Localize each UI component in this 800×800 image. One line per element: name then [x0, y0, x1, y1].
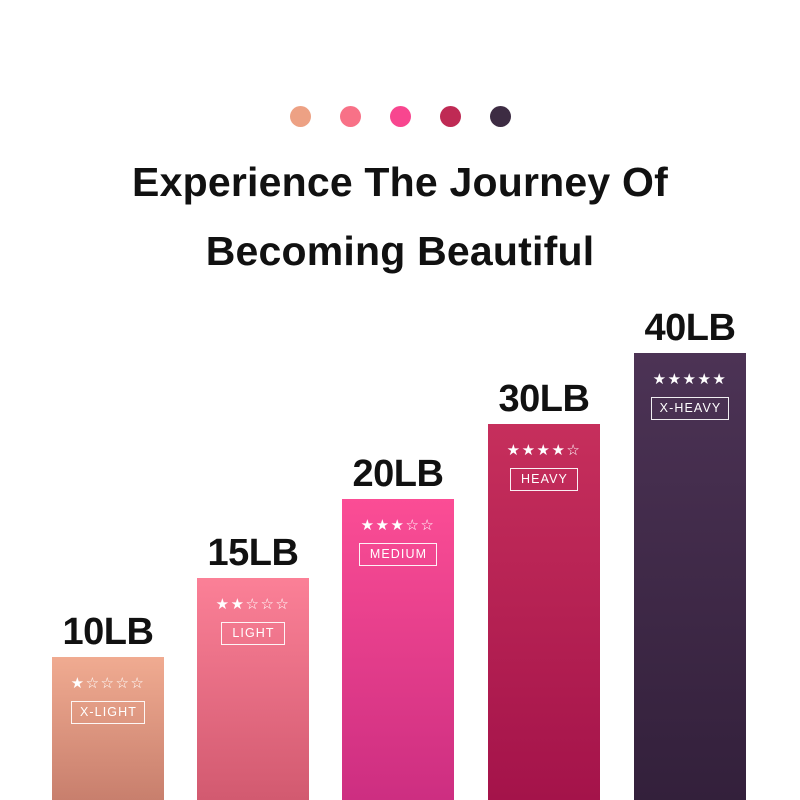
bar-30lb-value-label: 30LB — [499, 380, 590, 418]
bar-40lb-value-label: 40LB — [645, 309, 736, 347]
bar-20lb-star-rating: ★★★☆☆ — [361, 518, 436, 533]
bar-20lb-value-label: 20LB — [353, 455, 444, 493]
bar-30lb[interactable]: 30LB★★★★☆HEAVY — [488, 424, 600, 800]
bar-15lb-value-label: 15LB — [208, 534, 299, 572]
bar-15lb-fill: ★★☆☆☆LIGHT — [197, 578, 309, 800]
bar-20lb-tier-label: MEDIUM — [359, 543, 437, 566]
bar-40lb-fill: ★★★★★X-HEAVY — [634, 353, 746, 800]
bar-10lb-value-label: 10LB — [63, 613, 154, 651]
bar-10lb-tier-label: X-LIGHT — [71, 701, 145, 724]
bar-20lb-fill: ★★★☆☆MEDIUM — [342, 499, 454, 800]
bar-30lb-fill: ★★★★☆HEAVY — [488, 424, 600, 800]
bar-10lb-fill: ★☆☆☆☆X-LIGHT — [52, 657, 164, 800]
bar-10lb[interactable]: 10LB★☆☆☆☆X-LIGHT — [52, 657, 164, 800]
product-infographic: Experience The Journey Of Becoming Beaut… — [0, 0, 800, 800]
bar-15lb-star-rating: ★★☆☆☆ — [216, 597, 291, 612]
resistance-bar-chart: 10LB★☆☆☆☆X-LIGHT15LB★★☆☆☆LIGHT20LB★★★☆☆M… — [0, 0, 800, 800]
bar-20lb[interactable]: 20LB★★★☆☆MEDIUM — [342, 499, 454, 800]
bar-30lb-star-rating: ★★★★☆ — [507, 443, 582, 458]
bar-30lb-tier-label: HEAVY — [510, 468, 578, 491]
bar-10lb-star-rating: ★☆☆☆☆ — [71, 676, 146, 691]
bar-40lb[interactable]: 40LB★★★★★X-HEAVY — [634, 353, 746, 800]
bar-15lb[interactable]: 15LB★★☆☆☆LIGHT — [197, 578, 309, 800]
bar-40lb-tier-label: X-HEAVY — [651, 397, 730, 420]
bar-40lb-star-rating: ★★★★★ — [653, 372, 728, 387]
bar-15lb-tier-label: LIGHT — [221, 622, 284, 645]
